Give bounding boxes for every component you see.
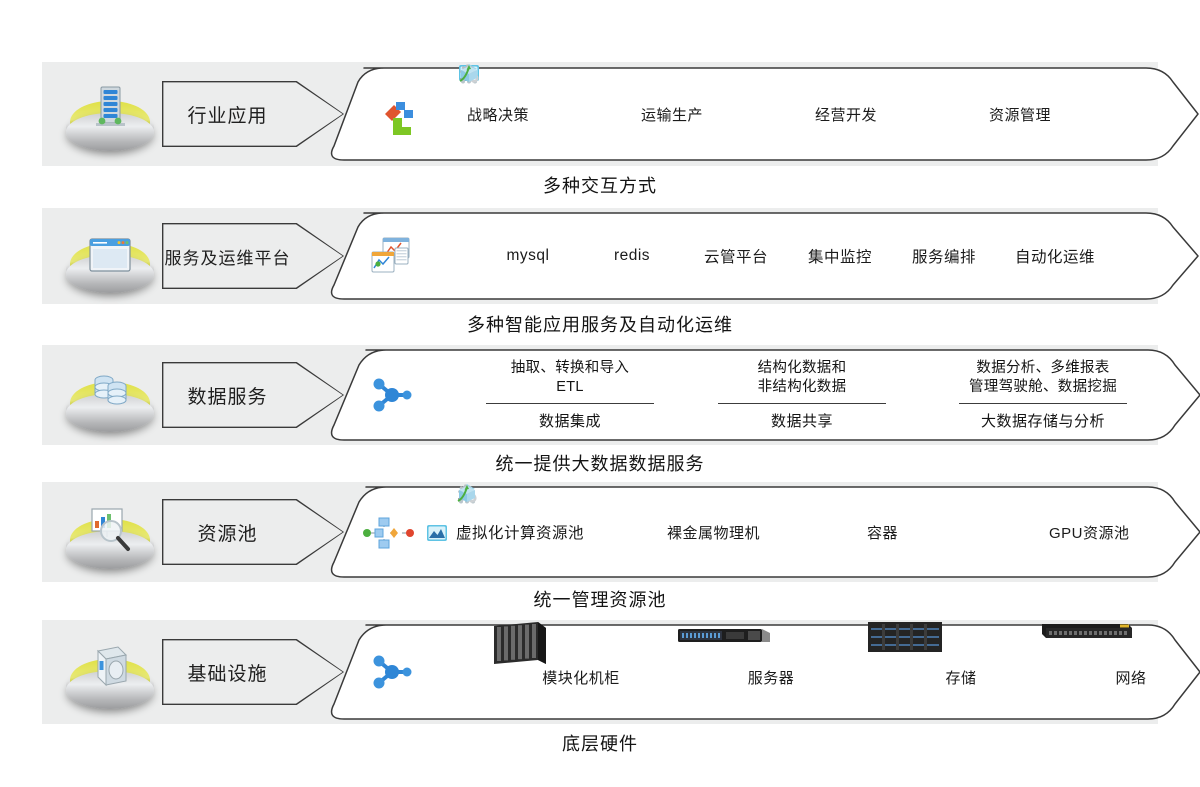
layer-icon-building xyxy=(62,71,158,157)
layer-label-text: 数据服务 xyxy=(162,362,293,428)
divider xyxy=(486,403,654,405)
list-item[interactable]: 运输生产 xyxy=(632,104,806,125)
layer-infrastructure: 基础设施 xyxy=(42,620,1158,724)
layer-label-chevron-service-ops-platform[interactable]: 服务及运维平台 xyxy=(162,223,344,289)
data-column-sub: 数据集成 xyxy=(539,410,601,431)
layer-label-chevron-industry-application[interactable]: 行业应用 xyxy=(162,81,344,147)
divider xyxy=(959,403,1127,405)
layer-icon-database-stack xyxy=(62,352,158,438)
list-item[interactable]: 战略决策 xyxy=(458,104,632,125)
data-column-sub: 大数据存储与分析 xyxy=(981,410,1105,431)
layer-industry-application: 行业应用 xyxy=(42,62,1158,166)
list-item-label: 经营开发 xyxy=(815,104,877,125)
storage-disk-icon xyxy=(62,629,158,693)
data-column-head-line1: 抽取、转换和导入 xyxy=(511,359,629,378)
list-item-label: 存储 xyxy=(945,667,976,688)
list-item[interactable]: 模块化机柜 xyxy=(486,620,676,724)
layer-panel-infrastructure: 模块化机柜 xyxy=(326,620,1200,724)
layer-caption-infrastructure: 底层硬件 xyxy=(0,730,1200,756)
list-item-label: 网络 xyxy=(1115,667,1146,688)
layer-label-text: 行业应用 xyxy=(162,81,293,147)
layer-label-text: 资源池 xyxy=(162,499,293,565)
data-column-head-line1: 结构化数据和 xyxy=(758,359,847,378)
list-item-label: 裸金属物理机 xyxy=(667,522,760,543)
layer-service-ops-platform: 服务及运维平台 xyxy=(42,208,1158,304)
architecture-diagram: 行业应用 xyxy=(0,0,1200,787)
layer-data-service: 数据服务 xyxy=(42,345,1158,445)
list-item-label: 运输生产 xyxy=(641,104,703,125)
layer-panel-resource-pool: 虚拟化计算资源池 xyxy=(326,482,1200,582)
layer-icon-chart-magnifier xyxy=(62,489,158,575)
list-item[interactable]: 存储 xyxy=(866,620,1056,724)
list-item[interactable]: redis xyxy=(580,247,684,265)
building-icon xyxy=(62,71,158,135)
data-column[interactable]: 数据分析、多维报表 管理驾驶舱、数据挖掘 大数据存储与分析 xyxy=(918,345,1168,445)
layer-label-text: 服务及运维平台 xyxy=(162,223,293,289)
list-item[interactable]: 集中监控 xyxy=(788,245,892,267)
layer-caption-service-ops-platform: 多种智能应用服务及自动化运维 xyxy=(0,311,1200,337)
layer-label-chevron-infrastructure[interactable]: 基础设施 xyxy=(162,639,344,705)
list-item-label: 服务器 xyxy=(748,667,795,688)
list-item[interactable]: 裸金属物理机 xyxy=(658,522,858,543)
browser-window-icon xyxy=(62,213,158,277)
list-item[interactable]: 服务器 xyxy=(676,620,866,724)
layer-caption-data-service: 统一提供大数据数据服务 xyxy=(0,450,1200,476)
list-item-label: GPU资源池 xyxy=(1049,522,1130,543)
list-item-label: 容器 xyxy=(867,522,898,543)
layer-icon-storage-disk xyxy=(62,629,158,715)
layer-panel-service-ops-platform: mysql redis 云管平台 集中监控 服务编排 自动化运维 xyxy=(326,208,1200,304)
layer-caption-industry-application: 多种交互方式 xyxy=(0,172,1200,198)
list-item-label: 战略决策 xyxy=(467,104,529,125)
layer-resource-pool: 资源池 xyxy=(42,482,1158,582)
layer-label-chevron-data-service[interactable]: 数据服务 xyxy=(162,362,344,428)
list-item[interactable]: 经营开发 xyxy=(806,104,980,125)
data-column-head-line2: ETL xyxy=(556,378,584,397)
list-item[interactable]: 资源管理 xyxy=(980,104,1154,125)
data-column[interactable]: 结构化数据和 非结构化数据 数据共享 xyxy=(686,345,918,445)
list-item[interactable]: 云管平台 xyxy=(684,245,788,267)
layer-icon-browser-window xyxy=(62,213,158,299)
database-stack-icon xyxy=(62,352,158,416)
list-item-label: 模块化机柜 xyxy=(542,667,620,688)
list-item[interactable]: 虚拟化计算资源池 xyxy=(456,521,658,543)
layer-caption-resource-pool: 统一管理资源池 xyxy=(0,586,1200,612)
data-column-sub: 数据共享 xyxy=(771,410,833,431)
data-column[interactable]: 抽取、转换和导入 ETL 数据集成 xyxy=(454,345,686,445)
layer-panel-data-service: 抽取、转换和导入 ETL 数据集成 结构化数据和 非结构化数据 数据共享 数据分… xyxy=(326,345,1200,445)
list-item[interactable]: 网络 xyxy=(1036,620,1200,724)
list-item[interactable]: GPU资源池 xyxy=(1040,522,1200,543)
divider xyxy=(718,403,886,405)
layer-panel-industry-application: 战略决策 xyxy=(326,62,1200,166)
chart-magnifier-icon xyxy=(62,489,158,553)
list-item[interactable]: 自动化运维 xyxy=(996,245,1114,267)
data-column-head-line2: 非结构化数据 xyxy=(758,378,847,397)
layer-label-text: 基础设施 xyxy=(162,639,293,705)
list-item[interactable]: 服务编排 xyxy=(892,245,996,267)
list-item-label: 资源管理 xyxy=(989,104,1051,125)
list-item[interactable]: 容器 xyxy=(858,522,1040,543)
data-column-head-line1: 数据分析、多维报表 xyxy=(976,359,1109,378)
layer-label-chevron-resource-pool[interactable]: 资源池 xyxy=(162,499,344,565)
data-column-head-line2: 管理驾驶舱、数据挖掘 xyxy=(969,378,1117,397)
list-item[interactable]: mysql xyxy=(476,247,580,265)
